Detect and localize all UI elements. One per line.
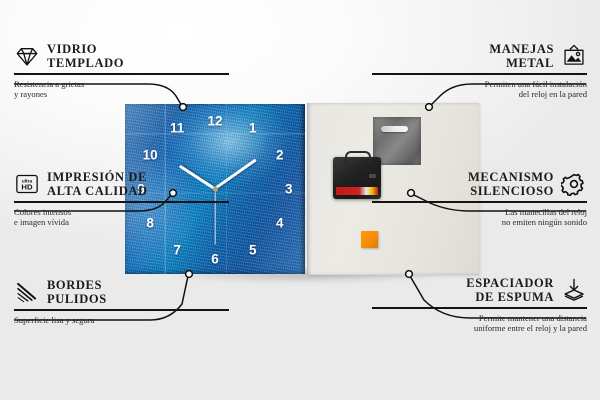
feature-divider: [14, 201, 229, 203]
feature-description-line2: y rayones: [14, 89, 229, 100]
clock-numeral-2: 2: [276, 148, 284, 162]
feature-divider: [14, 309, 229, 311]
clock-numeral-1: 1: [249, 121, 257, 135]
clock-numeral-7: 7: [173, 243, 181, 257]
feature-title-line1: ESPACIADOR: [466, 276, 554, 290]
feature-title-line2: TEMPLADO: [47, 56, 124, 70]
ultra-hd-icon: ultra HD: [14, 171, 40, 197]
feature-description-line1: Permiten una fácil instalación: [372, 79, 587, 90]
clock-numeral-3: 3: [285, 182, 293, 196]
feature-mecanismo-silencioso: MECANISMO SILENCIOSO Las manecillas del …: [372, 170, 587, 228]
polished-edges-icon: [14, 279, 40, 305]
feature-description-line1: Superficie lisa y segura: [14, 315, 229, 326]
clock-numeral-10: 10: [143, 148, 158, 162]
feature-description-line2: e imagen vívida: [14, 217, 229, 228]
movement-hanger-loop: [345, 151, 371, 163]
foam-spacer: [361, 231, 378, 248]
diamond-icon: [14, 43, 40, 69]
gear-icon: [561, 171, 587, 197]
feature-divider: [372, 201, 587, 203]
feature-divider: [372, 73, 587, 75]
feature-title-line2: METAL: [489, 56, 554, 70]
foam-spacer-arrow-icon: [561, 277, 587, 303]
feature-title-line2: PULIDOS: [47, 292, 107, 306]
feature-title-line1: BORDES: [47, 278, 107, 292]
feature-title-line1: IMPRESIÓN DE: [47, 170, 148, 184]
clock-numeral-12: 12: [207, 114, 222, 128]
clock-numeral-4: 4: [276, 216, 284, 230]
feature-description-line2: no emiten ningún sonido: [372, 217, 587, 228]
picture-frame-hanger-icon: [561, 43, 587, 69]
feature-vidrio-templado: VIDRIO TEMPLADO Resistencia a grietas y …: [14, 42, 229, 100]
feature-description-line1: Las manecillas del reloj: [372, 207, 587, 218]
svg-text:HD: HD: [21, 183, 33, 192]
feature-title-line2: ALTA CALIDAD: [47, 184, 148, 198]
feature-title-line1: MANEJAS: [489, 42, 554, 56]
feature-divider: [372, 307, 587, 309]
feature-description-line1: Permite mantener una distancia: [372, 313, 587, 324]
feature-title-line1: MECANISMO: [468, 170, 554, 184]
feature-bordes-pulidos: BORDES PULIDOS Superficie lisa y segura: [14, 278, 229, 325]
feature-description-line2: del reloj en la pared: [372, 89, 587, 100]
feature-title-line1: VIDRIO: [47, 42, 124, 56]
feature-title-line2: DE ESPUMA: [466, 290, 554, 304]
feature-description-line2: uniforme entre el reloj y la pared: [372, 323, 587, 334]
hanger-slot: [381, 126, 408, 132]
infographic-canvas: 12 1 2 3 4 5 6 7 8 9 10 11: [0, 0, 600, 400]
feature-espaciador-de-espuma: ESPACIADOR DE ESPUMA Permite mantener un…: [372, 276, 587, 334]
feature-description-line1: Colores intensos: [14, 207, 229, 218]
clock-numeral-5: 5: [249, 243, 257, 257]
feature-description-line1: Resistencia a grietas: [14, 79, 229, 90]
feature-title-line2: SILENCIOSO: [468, 184, 554, 198]
clock-numeral-11: 11: [170, 121, 184, 135]
feature-manejas-metal: MANEJAS METAL Permiten una fácil instala…: [372, 42, 587, 100]
clock-numeral-6: 6: [211, 252, 219, 266]
feature-divider: [14, 73, 229, 75]
feature-impresion-alta-calidad: ultra HD IMPRESIÓN DE ALTA CALIDAD Color…: [14, 170, 229, 228]
